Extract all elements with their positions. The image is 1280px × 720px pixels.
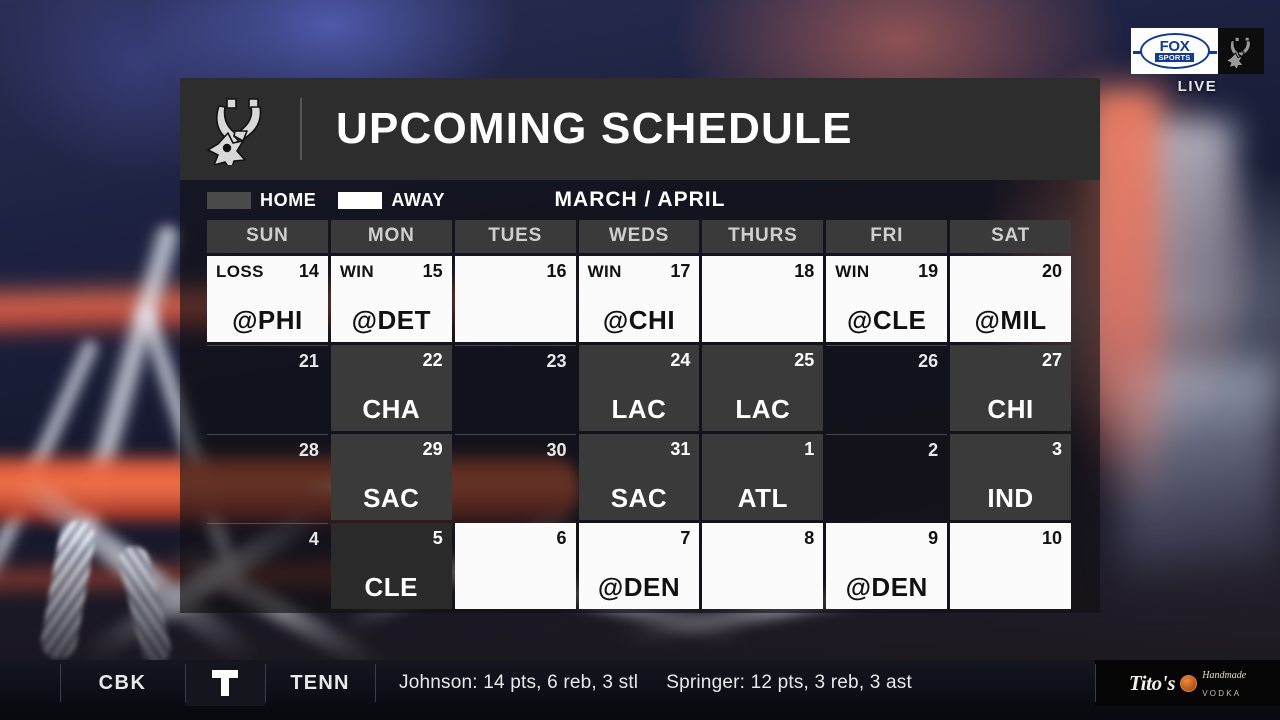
day-cell-top: 6 <box>464 528 567 549</box>
day-number: 29 <box>423 439 443 460</box>
day-cell-top: 1 <box>711 439 814 460</box>
calendar-day-cell[interactable]: 27CHI <box>950 345 1071 431</box>
calendar-day-cell[interactable]: 3IND <box>950 434 1071 520</box>
day-number: 24 <box>670 350 690 371</box>
day-number: 2 <box>928 440 938 461</box>
day-cell-top: 30 <box>464 440 567 461</box>
calendar-day-cell[interactable]: 29SAC <box>331 434 452 520</box>
calendar-day-cell[interactable]: WIN15@DET <box>331 256 452 342</box>
game-result: WIN <box>588 262 622 282</box>
ticker-stat-line-2: Springer: 12 pts, 3 reb, 3 ast <box>666 672 912 694</box>
opponent-label: @PHI <box>207 305 328 336</box>
day-number: 30 <box>547 440 567 461</box>
calendar-weeks: LOSS14@PHIWIN15@DET16WIN17@CHI18WIN19@CL… <box>207 256 1071 609</box>
legend-swatch-away <box>338 192 382 209</box>
opponent-label: LAC <box>702 394 823 425</box>
calendar-day-cell[interactable]: 21 <box>207 345 328 431</box>
calendar-day-cell[interactable]: 10 <box>950 523 1071 609</box>
legend: HOME AWAY MARCH / APRIL <box>180 180 1100 220</box>
panel-body: HOME AWAY MARCH / APRIL SUN MON TUES WED… <box>180 180 1100 613</box>
calendar-grid: SUN MON TUES WEDS THURS FRI SAT LOSS14@P… <box>207 220 1071 609</box>
calendar-day-cell[interactable]: 4 <box>207 523 328 609</box>
game-result: WIN <box>835 262 869 282</box>
opponent-label: CHA <box>331 394 452 425</box>
bottom-ticker: CBK TENN Johnson: 14 pts, 6 reb, 3 stl S… <box>0 660 1280 720</box>
game-result: WIN <box>340 262 374 282</box>
calendar-day-cell[interactable]: 25LAC <box>702 345 823 431</box>
day-cell-top: 5 <box>340 528 443 549</box>
calendar-day-cell[interactable]: 24LAC <box>579 345 700 431</box>
opponent-label: SAC <box>579 483 700 514</box>
titos-wordmark: Tito's <box>1129 671 1175 696</box>
day-cell-top: 4 <box>216 529 319 550</box>
fox-oval: FOX SPORTS <box>1140 33 1210 69</box>
calendar-week-row: LOSS14@PHIWIN15@DET16WIN17@CHI18WIN19@CL… <box>207 256 1071 342</box>
day-cell-top: 25 <box>711 350 814 371</box>
opponent-label: CHI <box>950 394 1071 425</box>
ticker-team: TENN <box>265 660 375 706</box>
day-number: 3 <box>1052 439 1062 460</box>
day-cell-top: 22 <box>340 350 443 371</box>
network-bug: FOX SPORTS LIVE <box>1131 28 1264 95</box>
fox-sports-logo-icon: FOX SPORTS <box>1131 28 1218 74</box>
calendar-day-cell[interactable]: 8 <box>702 523 823 609</box>
day-number: 25 <box>794 350 814 371</box>
spurs-logo-icon <box>1218 28 1264 74</box>
calendar-day-cell[interactable]: 16 <box>455 256 576 342</box>
ticker-league: CBK <box>60 660 185 706</box>
calendar-day-cell[interactable]: 28 <box>207 434 328 520</box>
opponent-label: @DET <box>331 305 452 336</box>
calendar-day-cell[interactable]: 31SAC <box>579 434 700 520</box>
calendar-day-cell[interactable]: 23 <box>455 345 576 431</box>
day-cell-top: WIN17 <box>588 261 691 282</box>
network-bug-logos: FOX SPORTS <box>1131 28 1264 74</box>
day-number: 27 <box>1042 350 1062 371</box>
day-number: 23 <box>547 351 567 372</box>
dow-thurs: THURS <box>702 220 823 253</box>
day-cell-top: 21 <box>216 351 319 372</box>
live-indicator: LIVE <box>1131 78 1264 95</box>
fox-wordmark: FOX <box>1160 40 1190 53</box>
day-number: 19 <box>918 261 938 282</box>
dow-sun: SUN <box>207 220 328 253</box>
day-number: 17 <box>670 261 690 282</box>
day-cell-top: 16 <box>464 261 567 282</box>
background-figure <box>1090 90 1160 510</box>
day-number: 1 <box>804 439 814 460</box>
panel-header: UPCOMING SCHEDULE <box>180 78 1100 180</box>
day-cell-top: 27 <box>959 350 1062 371</box>
day-cell-top: 7 <box>588 528 691 549</box>
calendar-day-cell[interactable]: LOSS14@PHI <box>207 256 328 342</box>
game-result: LOSS <box>216 262 264 282</box>
day-number: 14 <box>299 261 319 282</box>
day-cell-top: 3 <box>959 439 1062 460</box>
day-cell-top: 29 <box>340 439 443 460</box>
titos-lockup: Tito's Handmade VODKA <box>1129 665 1246 701</box>
schedule-panel: UPCOMING SCHEDULE HOME AWAY MARCH / APRI… <box>180 78 1100 613</box>
header-divider <box>300 98 302 160</box>
day-number: 26 <box>918 351 938 372</box>
calendar-day-cell[interactable]: 20@MIL <box>950 256 1071 342</box>
day-cell-top: WIN19 <box>835 261 938 282</box>
day-number: 31 <box>670 439 690 460</box>
calendar-day-cell[interactable]: WIN17@CHI <box>579 256 700 342</box>
day-cell-top: 20 <box>959 261 1062 282</box>
calendar-week-row: 2829SAC3031SAC1ATL23IND <box>207 434 1071 520</box>
calendar-day-cell[interactable]: 1ATL <box>702 434 823 520</box>
day-number: 5 <box>433 528 443 549</box>
day-cell-top: 24 <box>588 350 691 371</box>
day-cell-top: WIN15 <box>340 261 443 282</box>
calendar-day-cell[interactable]: 22CHA <box>331 345 452 431</box>
day-number: 22 <box>423 350 443 371</box>
calendar-day-cell[interactable]: 6 <box>455 523 576 609</box>
legend-label-home: HOME <box>260 190 316 211</box>
day-number: 8 <box>804 528 814 549</box>
day-number: 28 <box>299 440 319 461</box>
titos-tagline: Handmade VODKA <box>1202 665 1246 701</box>
day-number: 15 <box>423 261 443 282</box>
day-cell-top: 28 <box>216 440 319 461</box>
titos-handmade-text: Handmade <box>1202 670 1246 681</box>
day-cell-top: LOSS14 <box>216 261 319 282</box>
calendar-day-cell[interactable]: 2 <box>826 434 947 520</box>
day-cell-top: 31 <box>588 439 691 460</box>
day-cell-top: 9 <box>835 528 938 549</box>
calendar-day-cell[interactable]: 9@DEN <box>826 523 947 609</box>
month-label: MARCH / APRIL <box>180 188 1100 212</box>
day-number: 16 <box>547 261 567 282</box>
calendar-day-cell[interactable]: 18 <box>702 256 823 342</box>
day-cell-top: 23 <box>464 351 567 372</box>
day-number: 7 <box>680 528 690 549</box>
day-number: 18 <box>794 261 814 282</box>
day-number: 20 <box>1042 261 1062 282</box>
opponent-label: @CLE <box>826 305 947 336</box>
day-number: 6 <box>557 528 567 549</box>
sponsor-logo-titos: Tito's Handmade VODKA <box>1095 660 1280 706</box>
day-cell-top: 26 <box>835 351 938 372</box>
calendar-day-cell[interactable]: 5CLE <box>331 523 452 609</box>
tennessee-t-logo-icon <box>185 660 265 706</box>
titos-vodka-text: VODKA <box>1202 689 1241 698</box>
day-number: 9 <box>928 528 938 549</box>
day-cell-top: 10 <box>959 528 1062 549</box>
dow-fri: FRI <box>826 220 947 253</box>
dow-tues: TUES <box>455 220 576 253</box>
legend-label-away: AWAY <box>391 190 445 211</box>
page-title: UPCOMING SCHEDULE <box>336 104 853 154</box>
day-cell-top: 18 <box>711 261 814 282</box>
calendar-day-cell[interactable]: 7@DEN <box>579 523 700 609</box>
calendar-day-cell[interactable]: 26 <box>826 345 947 431</box>
legend-swatch-home <box>207 192 251 209</box>
ticker-spacer <box>0 660 60 706</box>
opponent-label: IND <box>950 483 1071 514</box>
ticker-stat-line-1: Johnson: 14 pts, 6 reb, 3 stl <box>399 672 638 694</box>
calendar-day-cell[interactable]: 30 <box>455 434 576 520</box>
opponent-label: @DEN <box>826 572 947 603</box>
opponent-label: @MIL <box>950 305 1071 336</box>
opponent-label: @DEN <box>579 572 700 603</box>
calendar-week-row: 2122CHA2324LAC25LAC2627CHI <box>207 345 1071 431</box>
opponent-label: ATL <box>702 483 823 514</box>
opponent-label: @CHI <box>579 305 700 336</box>
titos-seal-icon <box>1180 675 1197 692</box>
opponent-label: CLE <box>331 572 452 603</box>
sports-wordmark: SPORTS <box>1155 53 1193 62</box>
day-number: 4 <box>309 529 319 550</box>
day-cell-top: 2 <box>835 440 938 461</box>
calendar-day-cell[interactable]: WIN19@CLE <box>826 256 947 342</box>
calendar-week-row: 45CLE67@DEN89@DEN10 <box>207 523 1071 609</box>
opponent-label: LAC <box>579 394 700 425</box>
ticker-content: CBK TENN Johnson: 14 pts, 6 reb, 3 stl S… <box>0 660 1280 706</box>
day-number: 10 <box>1042 528 1062 549</box>
dow-sat: SAT <box>950 220 1071 253</box>
day-of-week-header: SUN MON TUES WEDS THURS FRI SAT <box>207 220 1071 253</box>
spurs-logo-icon <box>180 93 300 165</box>
opponent-label: SAC <box>331 483 452 514</box>
day-number: 21 <box>299 351 319 372</box>
day-cell-top: 8 <box>711 528 814 549</box>
dow-mon: MON <box>331 220 452 253</box>
ticker-stats: Johnson: 14 pts, 6 reb, 3 stl Springer: … <box>375 660 1095 706</box>
dow-weds: WEDS <box>579 220 700 253</box>
